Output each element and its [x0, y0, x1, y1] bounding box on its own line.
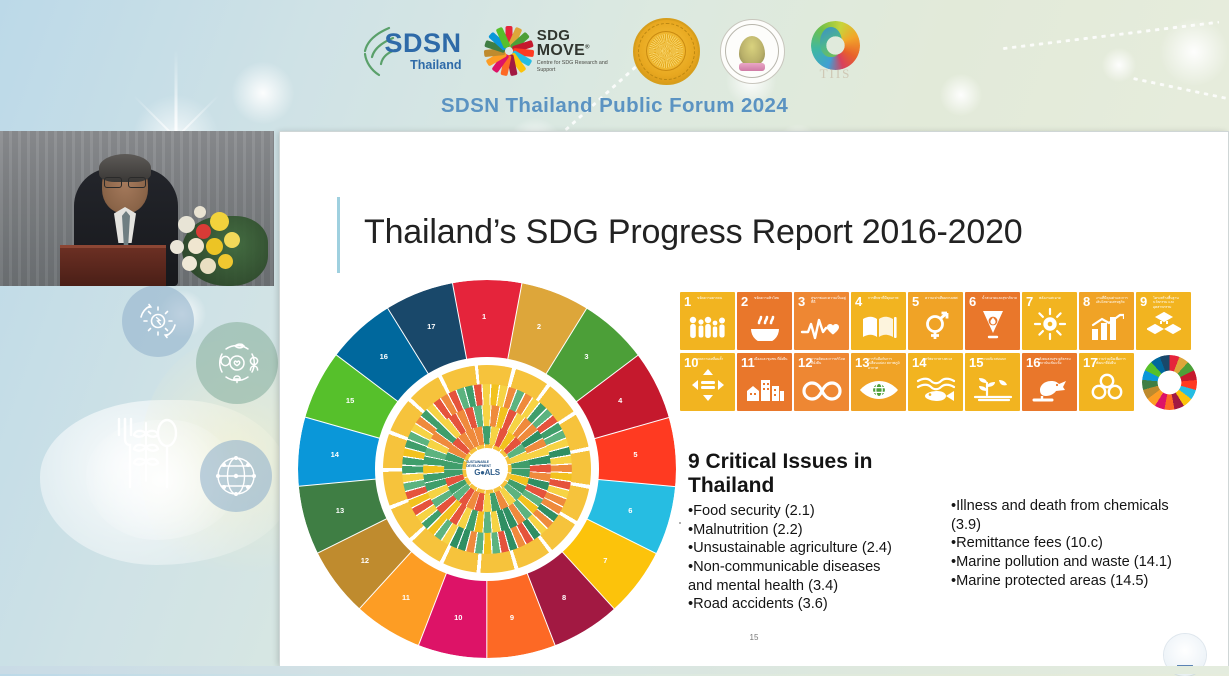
issue-line: •Marine protected areas (14.5)	[951, 572, 1226, 591]
family-icon	[680, 315, 735, 345]
sdg-goal-tile-1: 1ขจัดความยากจน	[680, 292, 735, 350]
sdg-goal-tile-8: 8งานที่มีคุณค่าและการเติบโตทางเศรษฐกิจ	[1079, 292, 1134, 350]
eye-globe-icon	[851, 378, 906, 406]
critical-issues-heading: 9 Critical Issues in Thailand	[688, 450, 903, 499]
issue-line: •Road accidents (3.6)	[688, 595, 948, 614]
sdg-goal-tile-9: 9โครงสร้างพื้นฐาน นวัตกรรม และอุตสาหกรรม	[1136, 292, 1191, 350]
tiis-swirl-icon	[811, 21, 860, 70]
sdg-goal-tile-4: 4การศึกษาที่มีคุณภาพ	[851, 292, 906, 350]
issue-line: (3.9)	[951, 516, 1226, 535]
wheel-goal-number: 4	[618, 396, 622, 405]
sdg-goal-label: โครงสร้างพื้นฐาน นวัตกรรม และอุตสาหกรรม	[1153, 296, 1188, 309]
sdg-goal-label: น้ำสะอาดและสุขาภิบาล	[982, 296, 1017, 300]
sdg-goal-label: สังคมสงบสุข ยุติธรรม สถาบันเข้มแข็ง	[1039, 357, 1074, 366]
sdg-colour-wheel-logo	[1142, 355, 1197, 410]
heartbeat-icon	[794, 317, 849, 345]
issue-line: •Illness and death from chemicals	[951, 497, 1226, 516]
issue-line: •Non-communicable diseases	[688, 558, 948, 577]
slide-page-number: 15	[280, 633, 1228, 642]
sdg-goal-tile-13: 13การรับมือกับการเปลี่ยนแปลง สภาพภูมิอาก…	[851, 353, 906, 411]
sdg-goal-number: 11	[741, 356, 755, 369]
wheel-goal-number: 13	[336, 506, 344, 515]
title-accent-bar	[337, 197, 340, 273]
mahidol-university-seal	[720, 19, 785, 84]
sdg-icon-row-2: 10ลดความเหลื่อมล้ำ11เมืองและชุมชน ที่ยั่…	[680, 353, 1200, 411]
sdg-goal-label: ขจัดความยากจน	[697, 296, 732, 300]
wheel-goal-number: 3	[584, 352, 588, 361]
issue-line: and mental health (3.4)	[688, 577, 948, 596]
sdg-goal-icon-grid: 1ขจัดความยากจน2ขจัดความหิวโหย3สุขภาพและค…	[680, 292, 1200, 414]
wheel-center-line2: G●ALS	[474, 469, 500, 477]
sdg-goal-number: 3	[798, 295, 805, 308]
forum-title: SDSN Thailand Public Forum 2024	[0, 94, 1229, 118]
sdg-move-wheel-icon	[488, 25, 531, 77]
critical-issues-right-column: •Illness and death from chemicals(3.9)•R…	[951, 497, 1226, 590]
critical-issues-left-column: •Food security (2.1)•Malnutrition (2.2)•…	[688, 502, 948, 614]
speaker-video-tile[interactable]	[0, 131, 274, 286]
wheel-goal-number: 16	[380, 352, 388, 361]
book-icon	[851, 313, 906, 345]
wheel-center-logo: SUSTAINABLE DEVELOPMENT G●ALS	[466, 448, 508, 490]
sdg-goal-number: 1	[684, 295, 691, 308]
issue-line: •Marine pollution and waste (14.1)	[951, 553, 1226, 572]
wheel-goal-number: 7	[603, 556, 607, 565]
sdg-goal-number: 8	[1083, 295, 1090, 308]
sdg-move-logo: SDG MOVE® Centre for SDG Research and Su…	[488, 20, 613, 82]
dove-gavel-icon	[1022, 374, 1077, 406]
sdsn-thailand-logo: SDSN Thailand	[363, 20, 468, 82]
biodiversity-icon	[196, 322, 278, 404]
growth-chart-icon	[1079, 313, 1134, 345]
sdg-icon-row-1: 1ขจัดความยากจน2ขจัดความหิวโหย3สุขภาพและค…	[680, 292, 1200, 350]
wheel-goal-number: 5	[633, 450, 637, 459]
sdsn-wordmark: SDSN	[385, 30, 462, 57]
sdsn-thailand-sub: Thailand	[385, 59, 462, 72]
sdg-goal-number: 5	[912, 295, 919, 308]
partnership-rings-icon	[1079, 372, 1134, 406]
sdg-progress-wheel: SUSTAINABLE DEVELOPMENT G●ALS 1234567891…	[298, 280, 676, 658]
wheel-goal-number: 2	[537, 322, 541, 331]
sdg-goal-label: ความเท่าเทียมทางเพศ	[925, 296, 960, 300]
sdg-goal-number: 2	[741, 295, 748, 308]
equality-arrows-icon	[680, 368, 735, 406]
sdg-goal-label: งานที่มีคุณค่าและการเติบโตทางเศรษฐกิจ	[1096, 296, 1131, 305]
wheel-goal-number: 12	[361, 556, 369, 565]
cubes-icon	[1136, 311, 1191, 345]
sdg-move-line2: MOVE®	[537, 43, 613, 59]
sdg-move-tagline: Centre for SDG Research and Support	[537, 60, 613, 73]
food-cutlery-icon	[70, 378, 220, 528]
sdg-goal-tile-15: 15ระบบนิเวศบนบก	[965, 353, 1020, 411]
sdg-goal-label: สุขภาพและความเป็นอยู่ที่ดี	[811, 296, 846, 305]
city-icon	[737, 374, 792, 406]
wheel-goal-number: 14	[331, 450, 339, 459]
sdg-goal-label: พลังงานสะอาด	[1039, 296, 1074, 300]
sdg-goal-tile-12: 12การผลิตและการบริโภคที่ยั่งยืน	[794, 353, 849, 411]
wheel-goal-number: 10	[454, 613, 462, 622]
gender-icon	[908, 311, 963, 345]
sdg-goal-label: การรับมือกับการเปลี่ยนแปลง สภาพภูมิอากาศ	[868, 357, 903, 370]
sdg-goal-tile-2: 2ขจัดความหิวโหย	[737, 292, 792, 350]
issue-line: •Remittance fees (10.c)	[951, 534, 1226, 553]
deco-blob	[40, 400, 290, 565]
sdg-goal-label: การศึกษาที่มีคุณภาพ	[868, 296, 903, 300]
sdg-goal-tile-10: 10ลดความเหลื่อมล้ำ	[680, 353, 735, 411]
sun-icon	[1022, 307, 1077, 345]
global-network-icon	[200, 440, 272, 512]
sdg-goal-number: 9	[1140, 295, 1147, 308]
presentation-slide: Thailand’s SDG Progress Report 2016-2020…	[280, 132, 1228, 666]
wheel-goal-number: 8	[562, 593, 566, 602]
sdg-goal-label: ลดความเหลื่อมล้ำ	[697, 357, 732, 361]
tree-icon	[965, 374, 1020, 406]
sdg-goal-tile-7: 7พลังงานสะอาด	[1022, 292, 1077, 350]
slide-title: Thailand’s SDG Progress Report 2016-2020	[364, 213, 1023, 252]
sdg-goal-label: ขจัดความหิวโหย	[754, 296, 789, 300]
sdg-goal-number: 4	[855, 295, 862, 308]
sdg-move-line1: SDG	[537, 28, 613, 43]
stray-marker	[679, 522, 681, 524]
renewable-energy-icon	[122, 285, 194, 357]
thammasat-university-seal	[633, 18, 700, 85]
sdg-goal-tile-6: 6น้ำสะอาดและสุขาภิบาล	[965, 292, 1020, 350]
wheel-goal-number: 1	[482, 312, 486, 321]
speaker-glasses-icon	[104, 177, 146, 186]
wheel-goal-number: 11	[402, 593, 410, 602]
sdg-goal-label: ระบบนิเวศบนบก	[982, 357, 1017, 361]
fish-icon	[908, 376, 963, 406]
wheel-goal-number: 6	[628, 506, 632, 515]
partner-logo-row: SDSN Thailand SDG MOVE® Centre for SDG R…	[0, 8, 1229, 94]
bowl-icon	[737, 313, 792, 345]
issue-line: •Unsustainable agriculture (2.4)	[688, 539, 948, 558]
sdg-goal-tile-11: 11เมืองและชุมชน ที่ยั่งยืน	[737, 353, 792, 411]
wheel-goal-number: 9	[510, 613, 514, 622]
infinity-icon	[794, 380, 849, 406]
registered-mark-icon: ®	[585, 45, 590, 51]
sdg-goal-tile-17: 17ความร่วมมือเพื่อการพัฒนาที่ยั่งยืน	[1079, 353, 1134, 411]
wheel-goal-number: 17	[427, 322, 435, 331]
issue-line: •Food security (2.1)	[688, 502, 948, 521]
bottom-strip	[0, 666, 1229, 674]
sdg-goal-tile-14: 14ทรัพยากรทางทะเล	[908, 353, 963, 411]
tiis-logo: TIIS	[805, 17, 867, 85]
issue-line: •Malnutrition (2.2)	[688, 521, 948, 540]
water-drop-icon	[965, 307, 1020, 345]
glow-dot	[158, 290, 206, 338]
sdg-goal-label: ความร่วมมือเพื่อการพัฒนาที่ยั่งยืน	[1096, 357, 1131, 366]
sdg-goal-tile-3: 3สุขภาพและความเป็นอยู่ที่ดี	[794, 292, 849, 350]
wheel-goal-number: 15	[346, 396, 354, 405]
sdg-goal-tile-16: 16สังคมสงบสุข ยุติธรรม สถาบันเข้มแข็ง	[1022, 353, 1077, 411]
deco-blob	[86, 420, 236, 540]
sdg-goal-label: เมืองและชุมชน ที่ยั่งยืน	[754, 357, 789, 361]
sdg-goal-tile-5: 5ความเท่าเทียมทางเพศ	[908, 292, 963, 350]
flower-bouquet	[144, 194, 256, 286]
sdg-goal-label: ทรัพยากรทางทะเล	[925, 357, 960, 361]
sdg-goal-label: การผลิตและการบริโภคที่ยั่งยืน	[811, 357, 846, 366]
